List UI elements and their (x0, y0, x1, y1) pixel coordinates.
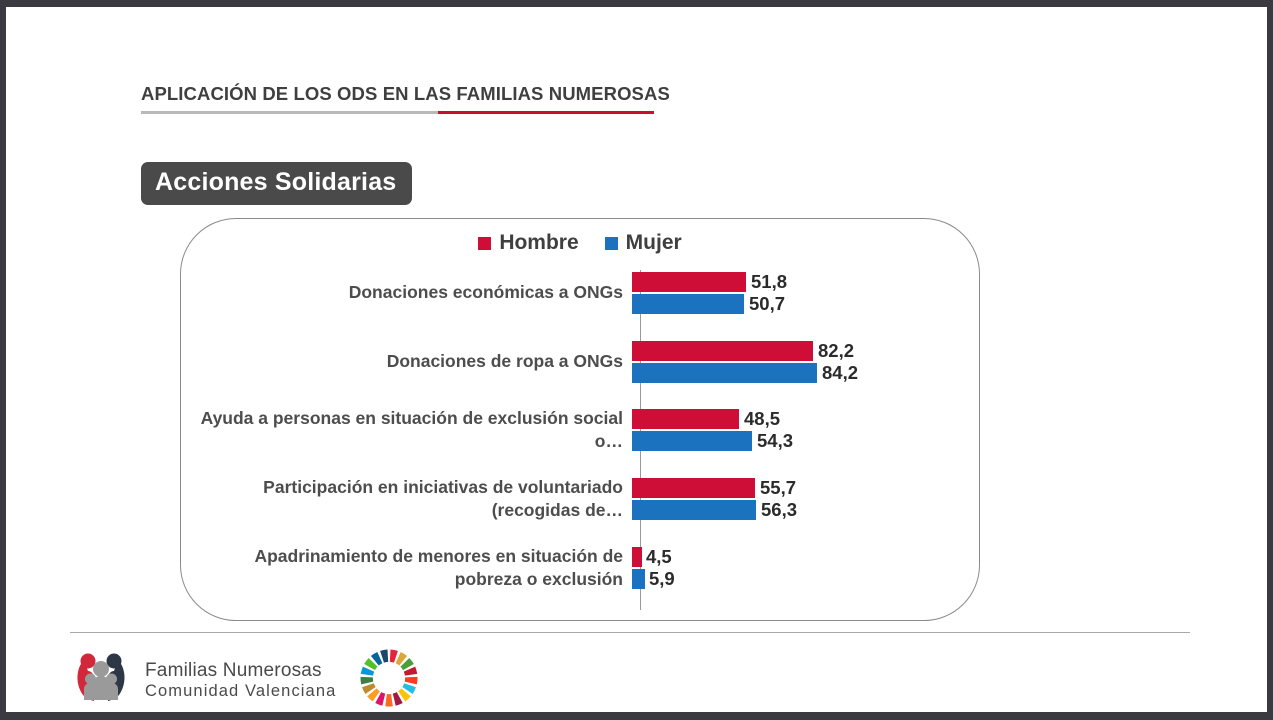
bar-value-mujer: 56,3 (761, 499, 797, 521)
bar-value-hombre: 55,7 (760, 477, 796, 499)
bar-line-mujer: 84,2 (632, 362, 962, 384)
bar-hombre[interactable] (632, 478, 755, 498)
brand-lockup: Familias Numerosas Comunidad Valenciana (70, 648, 336, 713)
page-title: APLICACIÓN DE LOS ODS EN LAS FAMILIAS NU… (141, 83, 841, 105)
bar-group: 4,5 5,9 (632, 546, 962, 590)
chart-container: Hombre Mujer Donaciones económicas a ONG… (180, 218, 980, 621)
title-underline (141, 111, 654, 114)
bar-value-hombre: 82,2 (818, 340, 854, 362)
brand-text: Familias Numerosas Comunidad Valenciana (145, 660, 336, 702)
bar-line-mujer: 50,7 (632, 293, 962, 315)
bar-mujer[interactable] (632, 294, 744, 314)
chart-legend: Hombre Mujer (181, 231, 979, 255)
bar-group: 82,2 84,2 (632, 340, 962, 384)
category-label: Donaciones económicas a ONGs (189, 281, 632, 304)
legend-item-hombre[interactable]: Hombre (478, 231, 578, 255)
category-label: Donaciones de ropa a ONGs (189, 350, 632, 373)
bar-value-mujer: 5,9 (649, 568, 675, 590)
bar-hombre[interactable] (632, 547, 642, 567)
bar-value-hombre: 48,5 (744, 408, 780, 430)
bar-group: 55,7 56,3 (632, 477, 962, 521)
slide-canvas: APLICACIÓN DE LOS ODS EN LAS FAMILIAS NU… (6, 7, 1267, 712)
bar-value-mujer: 50,7 (749, 293, 785, 315)
bar-line-mujer: 54,3 (632, 430, 962, 452)
title-underline-accent (438, 111, 654, 114)
bar-group: 51,8 50,7 (632, 271, 962, 315)
bar-value-hombre: 4,5 (646, 546, 672, 568)
bar-line-hombre: 4,5 (632, 546, 962, 568)
legend-swatch-hombre (478, 237, 491, 250)
legend-label-hombre: Hombre (499, 231, 578, 255)
bar-line-hombre: 48,5 (632, 408, 962, 430)
category-label: Participación en iniciativas de voluntar… (189, 476, 632, 523)
category-label: Ayuda a personas en situación de exclusi… (189, 407, 632, 454)
bar-group: 48,5 54,3 (632, 408, 962, 452)
bar-mujer[interactable] (632, 569, 645, 589)
bar-row: Apadrinamiento de menores en situación d… (189, 545, 973, 592)
bar-hombre[interactable] (632, 341, 813, 361)
sdg-color-wheel-icon (358, 647, 420, 714)
bar-mujer[interactable] (632, 363, 817, 383)
plot-area: Donaciones económicas a ONGs 51,8 50,7 D… (189, 265, 973, 615)
bar-value-hombre: 51,8 (751, 271, 787, 293)
bar-mujer[interactable] (632, 500, 756, 520)
brand-region: Comunidad Valenciana (145, 682, 336, 701)
bar-line-hombre: 82,2 (632, 340, 962, 362)
familias-numerosas-logo-icon (70, 648, 132, 713)
legend-item-mujer[interactable]: Mujer (605, 231, 682, 255)
bar-line-hombre: 55,7 (632, 477, 962, 499)
bar-line-mujer: 5,9 (632, 568, 962, 590)
footer: Familias Numerosas Comunidad Valenciana (70, 647, 420, 714)
brand-name: Familias Numerosas (145, 660, 336, 682)
bar-hombre[interactable] (632, 409, 739, 429)
bar-line-hombre: 51,8 (632, 271, 962, 293)
category-label: Apadrinamiento de menores en situación d… (189, 545, 632, 592)
bar-row: Donaciones de ropa a ONGs 82,2 84,2 (189, 340, 973, 384)
bar-mujer[interactable] (632, 431, 752, 451)
bar-row: Participación en iniciativas de voluntar… (189, 476, 973, 523)
bar-line-mujer: 56,3 (632, 499, 962, 521)
title-block: APLICACIÓN DE LOS ODS EN LAS FAMILIAS NU… (141, 83, 841, 114)
legend-swatch-mujer (605, 237, 618, 250)
bar-value-mujer: 54,3 (757, 430, 793, 452)
legend-label-mujer: Mujer (626, 231, 682, 255)
bar-hombre[interactable] (632, 272, 746, 292)
bar-row: Ayuda a personas en situación de exclusi… (189, 407, 973, 454)
bar-row: Donaciones económicas a ONGs 51,8 50,7 (189, 271, 973, 315)
bar-value-mujer: 84,2 (822, 362, 858, 384)
section-badge: Acciones Solidarias (141, 162, 412, 205)
footer-divider (70, 632, 1190, 633)
